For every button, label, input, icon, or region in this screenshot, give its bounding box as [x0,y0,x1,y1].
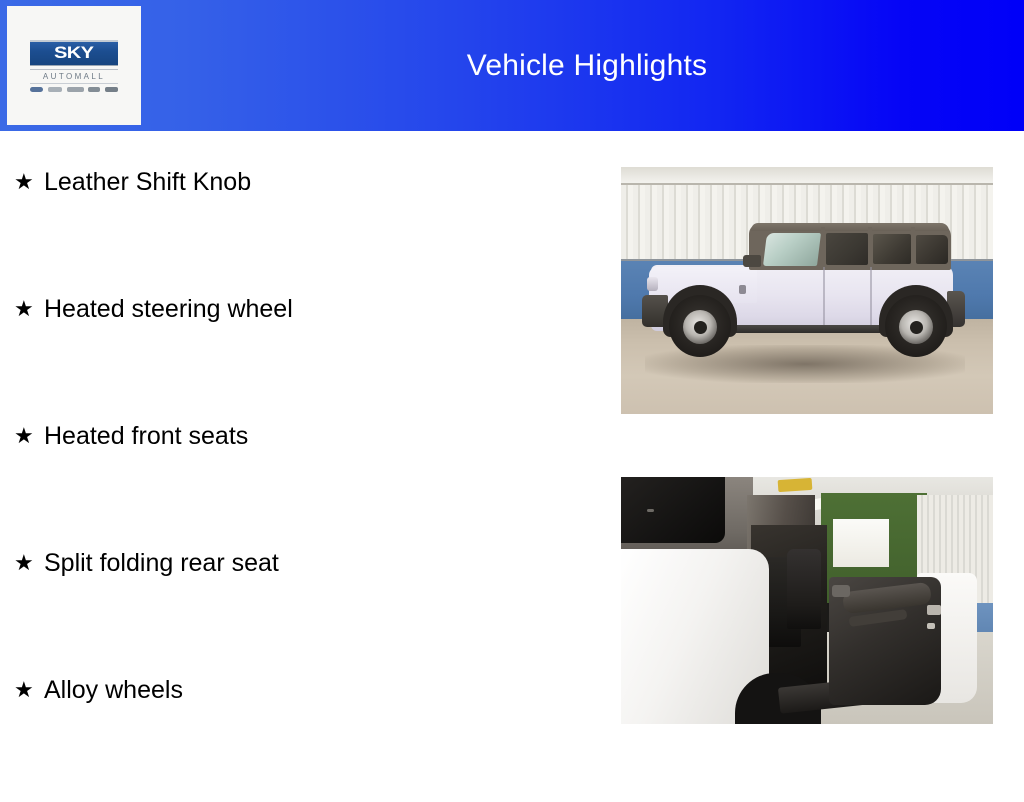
star-bullet-icon: ★ [14,675,44,705]
list-item: ★ Leather Shift Knob [0,167,600,294]
logo-divider [30,69,118,70]
highlight-label: Heated front seats [44,421,248,451]
vehicle-exterior-photo [621,167,993,414]
headlight [647,277,658,291]
rear-door-seam [870,267,872,325]
b-pillar [821,227,825,267]
glass-highlight [647,509,654,512]
ford-brand-icon [30,87,43,92]
page-header: Vehicle Highlights [0,0,1024,131]
rear-window-glass [621,477,725,543]
ram-brand-icon [105,87,118,92]
garage-wall-top [621,167,993,183]
ceiling-yellow-fixture [778,478,813,492]
list-item: ★ Heated front seats [0,421,600,548]
chrysler-brand-icon [67,87,84,92]
side-mirror [743,255,761,267]
page-title: Vehicle Highlights [150,0,1024,131]
fender-badge [739,285,746,294]
highlight-label: Split folding rear seat [44,548,279,578]
front-seatback [787,549,821,629]
front-door-window [826,233,868,265]
garage-wall-seam [621,183,993,185]
dealer-logo: SKY AUTOMALL [7,6,141,125]
highlight-label: Heated steering wheel [44,294,293,324]
logo-banner: SKY [30,40,118,66]
d-pillar [911,227,915,267]
list-item: ★ Heated steering wheel [0,294,600,421]
quarter-window [916,235,948,264]
interior-door-handle [832,585,850,597]
highlights-list: ★ Leather Shift Knob ★ Heated steering w… [0,131,600,768]
front-hub [694,321,707,334]
c-pillar [868,227,872,267]
vehicle-interior-photo [621,477,993,724]
logo-divider-lower [30,83,118,84]
rear-door-window [873,234,911,264]
highlight-label: Alloy wheels [44,675,183,705]
vehicle-roof-cap [751,223,949,231]
star-bullet-icon: ★ [14,167,44,197]
highlight-label: Leather Shift Knob [44,167,251,197]
lincoln-brand-icon [48,87,62,92]
logo-brand-row [30,87,118,92]
list-item: ★ Alloy wheels [0,675,600,802]
running-board [707,325,907,333]
logo-wordmark: SKY [54,43,93,63]
logo-subtitle: AUTOMALL [43,72,105,81]
star-bullet-icon: ★ [14,294,44,324]
door-striker [927,623,935,629]
white-wall-panel [833,519,889,567]
front-door-seam [823,267,825,325]
star-bullet-icon: ★ [14,421,44,451]
front-window [763,233,821,266]
list-item: ★ Split folding rear seat [0,548,600,675]
jeep-brand-icon [88,87,100,92]
rear-hub [910,321,923,334]
logo-inner: SKY AUTOMALL [28,40,120,92]
star-bullet-icon: ★ [14,548,44,578]
door-latch [927,605,941,615]
